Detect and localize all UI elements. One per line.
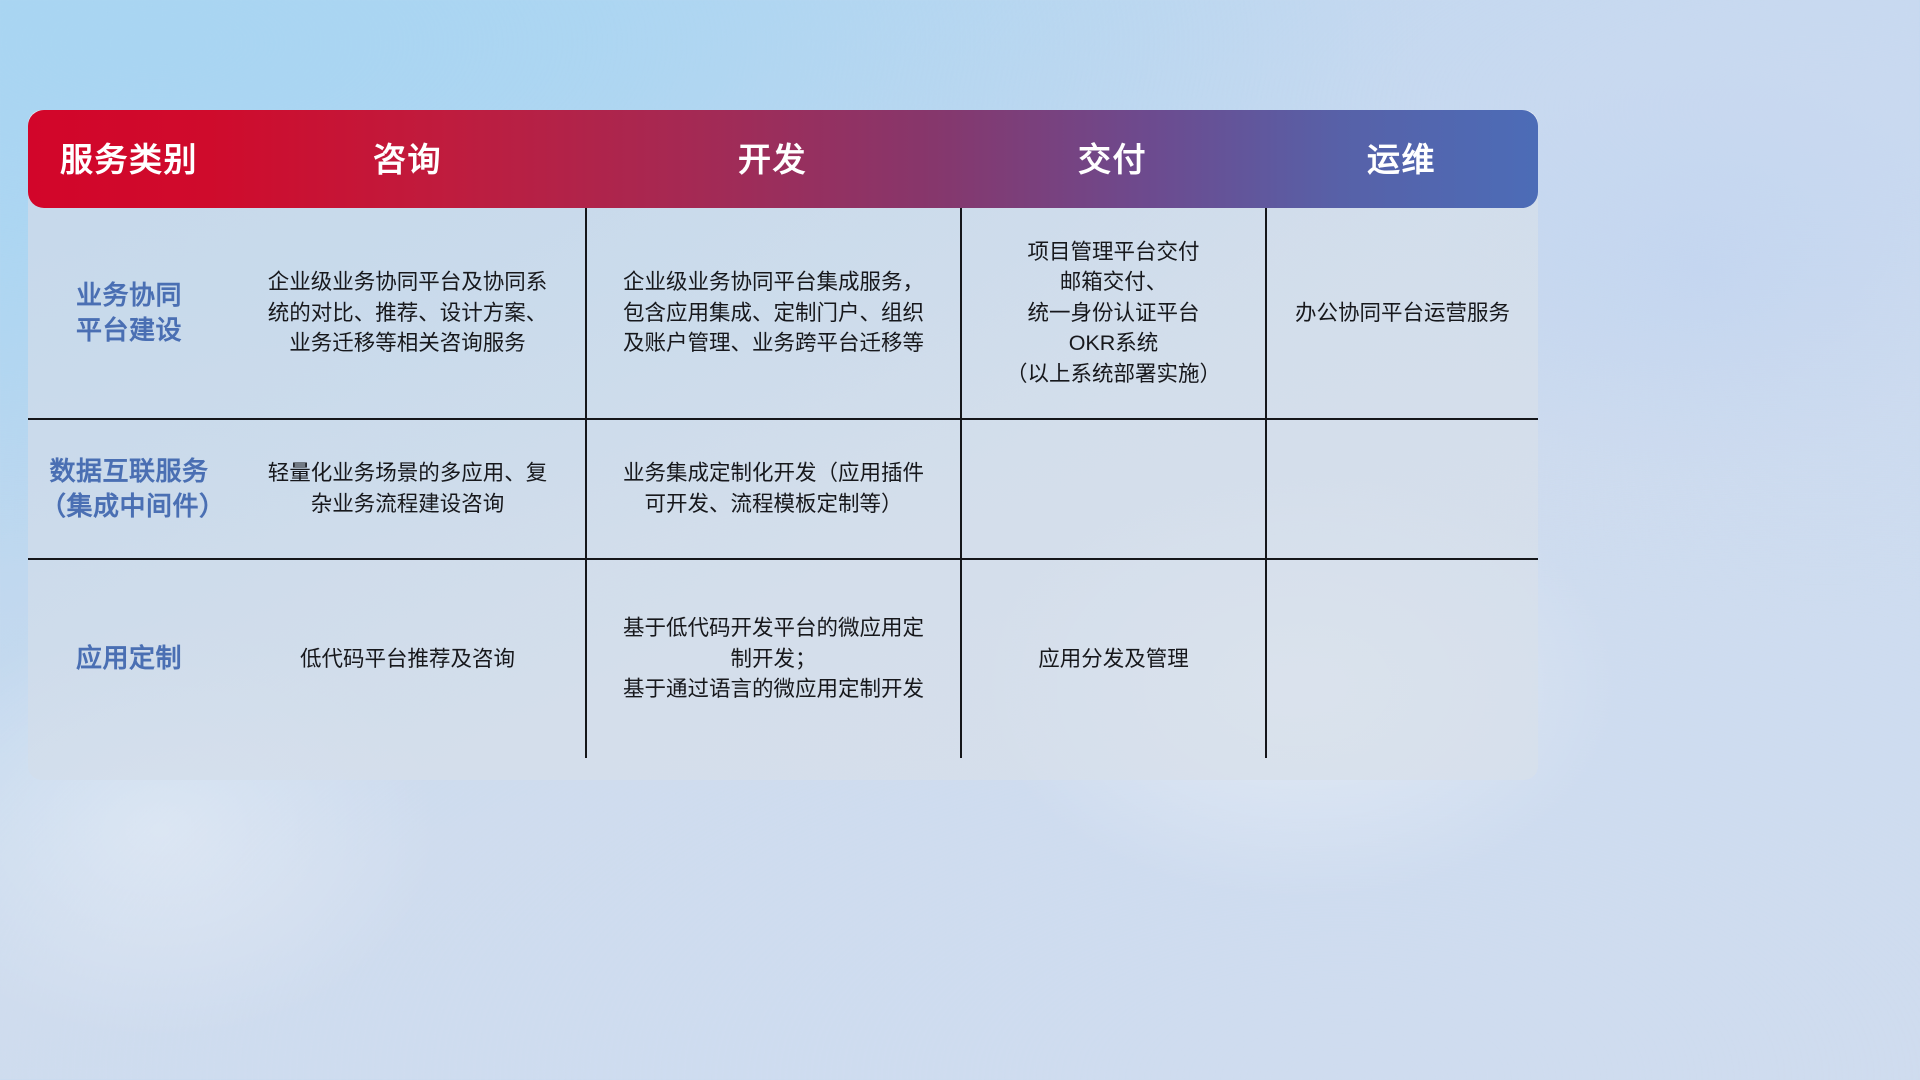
cell-operations: 办公协同平台运营服务 (1265, 208, 1538, 418)
row-label-cell: 业务协同 平台建设 (28, 208, 230, 418)
column-header-delivery: 交付 (960, 143, 1265, 176)
cell-development: 基于低代码开发平台的微应用定 制开发； 基于通过语言的微应用定制开发 (585, 560, 960, 758)
cell-delivery (960, 420, 1265, 558)
row-label-text: 应用定制 (76, 641, 182, 676)
table-row: 应用定制 低代码平台推荐及咨询 基于低代码开发平台的微应用定 制开发； 基于通过… (28, 558, 1538, 758)
cell-consulting: 低代码平台推荐及咨询 (230, 560, 585, 758)
column-header-development: 开发 (585, 143, 960, 176)
column-header-operations: 运维 (1265, 143, 1538, 176)
slide-canvas: 服务类别 咨询 开发 交付 运维 业务协同 平台建设 企业级业务协同平台及协同系… (0, 0, 1920, 1080)
cell-development: 企业级业务协同平台集成服务， 包含应用集成、定制门户、组织 及账户管理、业务跨平… (585, 208, 960, 418)
table-header-row: 服务类别 咨询 开发 交付 运维 (28, 110, 1538, 208)
cell-delivery: 项目管理平台交付 邮箱交付、 统一身份认证平台 OKR系统 （以上系统部署实施） (960, 208, 1265, 418)
cell-operations (1265, 420, 1538, 558)
cell-development: 业务集成定制化开发（应用插件 可开发、流程模板定制等） (585, 420, 960, 558)
row-label-text: 数据互联服务 （集成中间件） (40, 454, 218, 524)
column-header-consulting: 咨询 (230, 143, 585, 176)
row-label-cell: 数据互联服务 （集成中间件） (28, 420, 230, 558)
cell-consulting: 轻量化业务场景的多应用、复 杂业务流程建设咨询 (230, 420, 585, 558)
column-header-category: 服务类别 (28, 143, 230, 176)
row-label-text: 业务协同 平台建设 (76, 278, 182, 348)
cell-operations (1265, 560, 1538, 758)
cell-consulting: 企业级业务协同平台及协同系 统的对比、推荐、设计方案、 业务迁移等相关咨询服务 (230, 208, 585, 418)
table-row: 数据互联服务 （集成中间件） 轻量化业务场景的多应用、复 杂业务流程建设咨询 业… (28, 418, 1538, 558)
row-label-cell: 应用定制 (28, 560, 230, 758)
table-row: 业务协同 平台建设 企业级业务协同平台及协同系 统的对比、推荐、设计方案、 业务… (28, 208, 1538, 418)
service-matrix-table: 服务类别 咨询 开发 交付 运维 业务协同 平台建设 企业级业务协同平台及协同系… (28, 110, 1538, 780)
table-body: 业务协同 平台建设 企业级业务协同平台及协同系 统的对比、推荐、设计方案、 业务… (28, 208, 1538, 780)
cell-delivery: 应用分发及管理 (960, 560, 1265, 758)
